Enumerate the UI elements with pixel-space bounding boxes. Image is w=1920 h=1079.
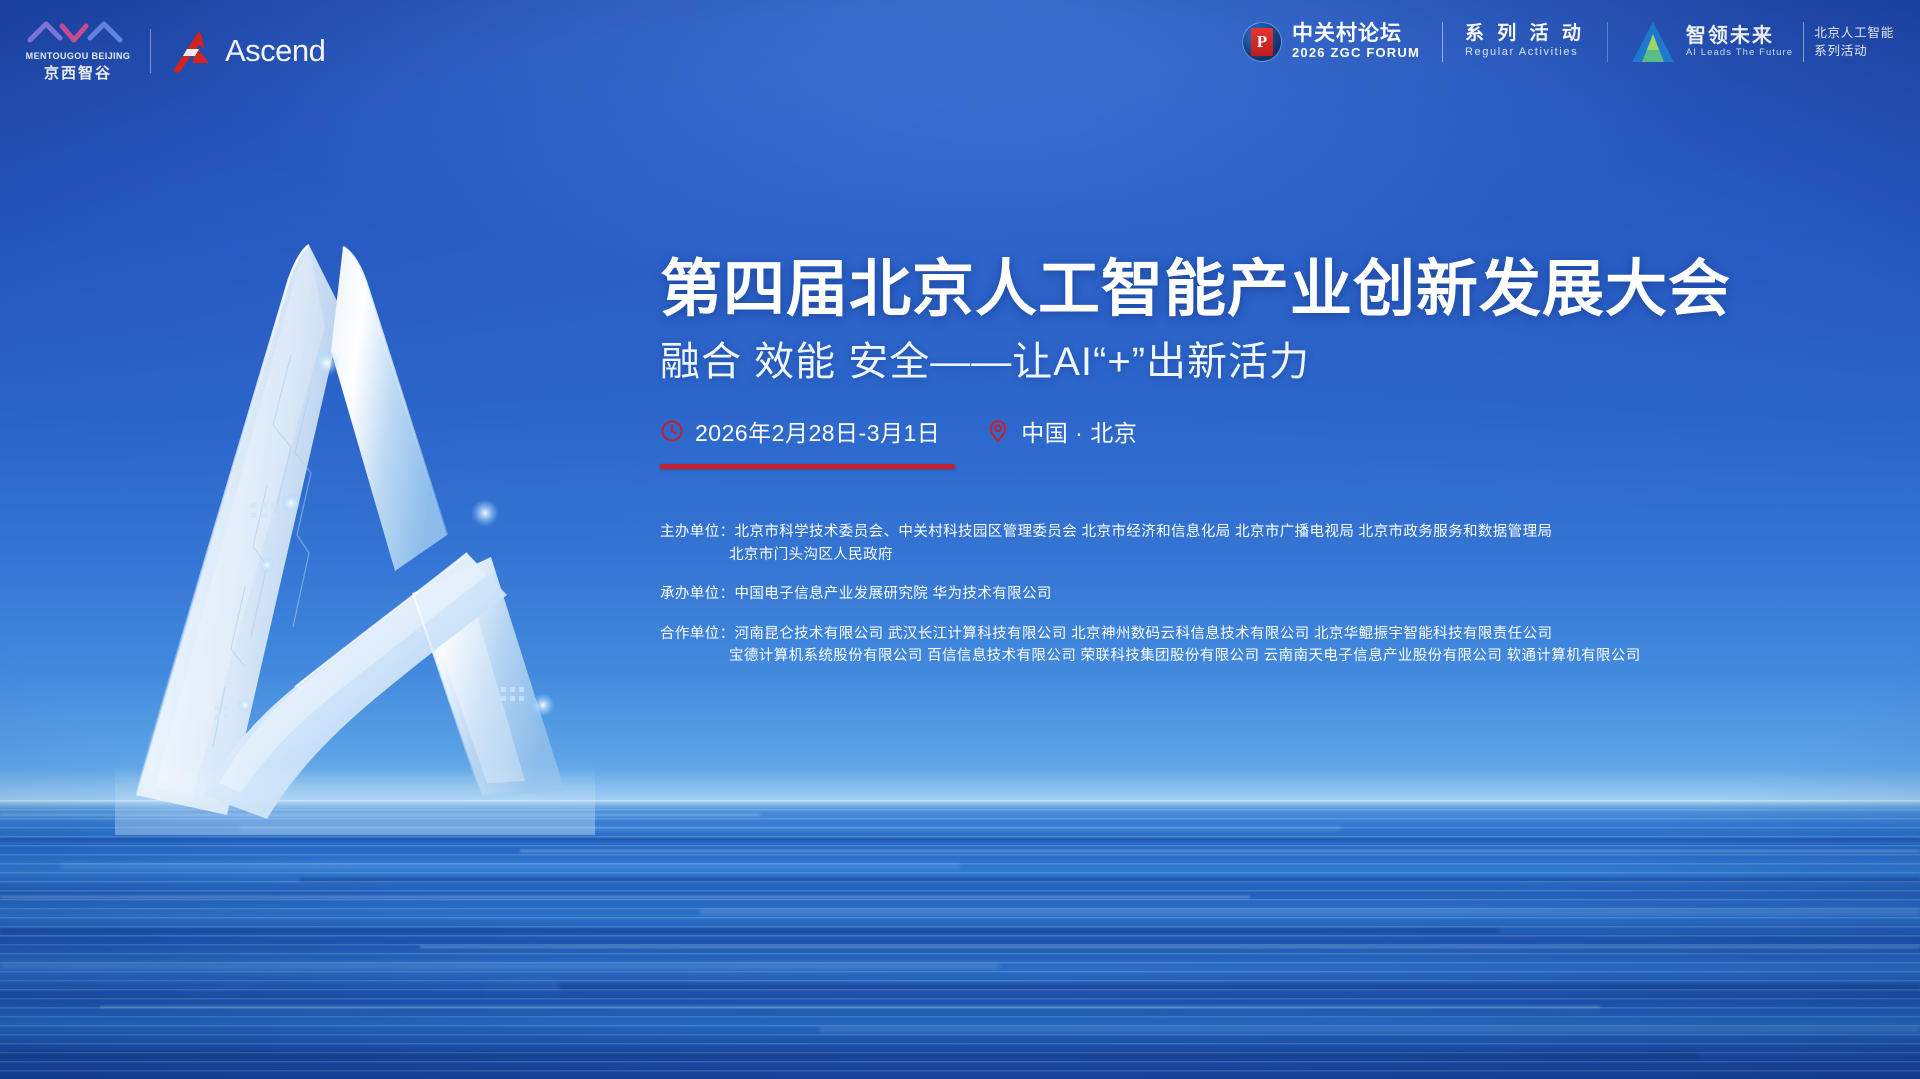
page-title: 第四届北京人工智能产业创新发展大会 [660, 255, 1890, 324]
organizers-block: 主办单位：北京市科学技术委员会、中关村科技园区管理委员会 北京市经济和信息化局 … [660, 521, 1890, 667]
header-divider-2 [1442, 22, 1443, 62]
host-organizers: 主办单位：北京市科学技术委员会、中关村科技园区管理委员会 北京市经济和信息化局 … [660, 521, 1890, 566]
date-item: 2026年2月28日-3月1日 [660, 414, 940, 448]
mentougou-logo[interactable]: MENTOUGOU BEIJING 京西智谷 [24, 18, 132, 83]
zgc-en-label: 2026 ZGC FORUM [1292, 45, 1420, 61]
zhiling-cn-label: 智领未来 [1686, 25, 1793, 47]
mentougou-peaks-mark [24, 18, 132, 44]
series-cn-label: 系 列 活 动 [1465, 24, 1585, 45]
series-en-label: Regular Activities [1465, 45, 1585, 59]
zhiling-right-line-1: 北京人工智能 [1814, 24, 1894, 42]
header-bar: MENTOUGOU BEIJING 京西智谷 Ascend P [0, 0, 1920, 100]
water-surface [0, 800, 1920, 1079]
poster-stage: MENTOUGOU BEIJING 京西智谷 Ascend P [0, 0, 1920, 1079]
location-item: 中国 · 北京 [986, 414, 1137, 448]
clock-icon [660, 419, 684, 443]
location-text: 中国 · 北京 [1021, 414, 1137, 448]
mentougou-cn-label: 京西智谷 [24, 62, 132, 83]
header-divider-4 [1803, 22, 1804, 62]
organizer-line-1: 承办单位：中国电子信息产业发展研究院 华为技术有限公司 [660, 583, 1890, 605]
zgc-cn-label: 中关村论坛 [1292, 23, 1420, 45]
left-logo-group: MENTOUGOU BEIJING 京西智谷 Ascend [24, 18, 325, 83]
zhiling-en-label: AI Leads The Future [1686, 47, 1793, 59]
zgc-badge-glyph: P [1251, 28, 1273, 56]
zhiling-logo[interactable]: 智领未来 AI Leads The Future 北京人工智能 系列活动 [1630, 20, 1894, 64]
executive-organizers: 承办单位：中国电子信息产业发展研究院 华为技术有限公司 [660, 583, 1890, 605]
meta-row: 2026年2月28日-3月1日 中国 · 北京 [660, 414, 1890, 448]
zhiling-triangle-mark [1630, 20, 1676, 64]
partner-line-1: 合作单位：河南昆仑技术有限公司 武汉长江计算科技有限公司 北京神州数码云科信息技… [660, 623, 1890, 645]
ascend-wordmark: Ascend [225, 33, 325, 69]
main-copy-block: 第四届北京人工智能产业创新发展大会 融合 效能 安全——让AI“+”出新活力 2… [660, 255, 1890, 685]
glass-a-sculpture [95, 235, 615, 835]
water-streaks [0, 800, 1920, 1079]
partner-line-2: 宝德计算机系统股份有限公司 百信信息技术有限公司 荣联科技集团股份有限公司 云南… [660, 645, 1890, 667]
right-logo-group: P 中关村论坛 2026 ZGC FORUM 系 列 活 动 Regular A… [1242, 20, 1894, 64]
host-line-1: 主办单位：北京市科学技术委员会、中关村科技园区管理委员会 北京市经济和信息化局 … [660, 521, 1890, 543]
series-badge: 系 列 活 动 Regular Activities [1465, 24, 1585, 59]
zhiling-right-labels: 北京人工智能 系列活动 [1814, 24, 1894, 60]
zgc-forum-logo[interactable]: P 中关村论坛 2026 ZGC FORUM [1242, 22, 1420, 62]
mentougou-en-label: MENTOUGOU BEIJING [24, 51, 132, 61]
date-text: 2026年2月28日-3月1日 [695, 414, 940, 448]
accent-rule [660, 464, 955, 469]
page-subtitle: 融合 效能 安全——让AI“+”出新活力 [660, 338, 1890, 386]
zgc-badge-icon: P [1242, 22, 1282, 62]
ascend-logo[interactable]: Ascend [169, 29, 325, 73]
ascend-arrow-mark [169, 29, 217, 73]
header-divider-3 [1607, 22, 1608, 62]
partner-organizers: 合作单位：河南昆仑技术有限公司 武汉长江计算科技有限公司 北京神州数码云科信息技… [660, 623, 1890, 668]
header-divider-1 [150, 29, 151, 73]
map-pin-icon [986, 419, 1010, 443]
host-line-2: 北京市门头沟区人民政府 [660, 544, 1890, 566]
zhiling-right-line-2: 系列活动 [1814, 42, 1894, 60]
